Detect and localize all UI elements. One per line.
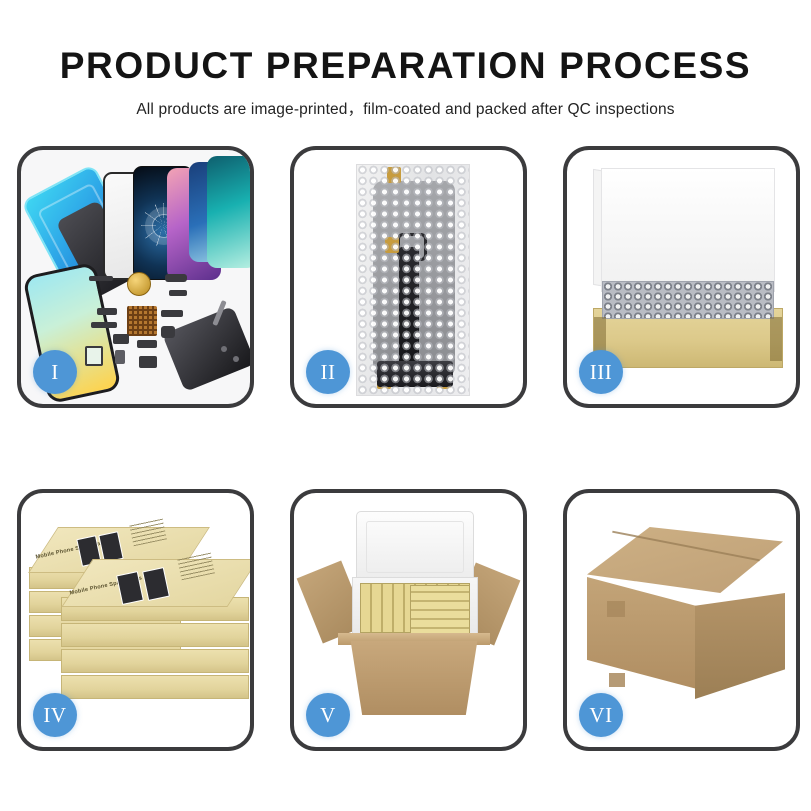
tape-patch-icon (607, 601, 625, 617)
white-box-lid-icon (601, 168, 775, 292)
sim-tray-icon (115, 350, 125, 364)
product-preparation-infographic: PRODUCT PREPARATION PROCESS All products… (0, 0, 811, 811)
teal-phone-icon (207, 156, 250, 268)
phone-back-housing-icon (162, 306, 250, 392)
kraft-tray-icon (593, 308, 783, 368)
page-title: PRODUCT PREPARATION PROCESS (0, 0, 811, 86)
connector-icon (97, 308, 117, 315)
step-panel-5: V (290, 489, 527, 751)
carton-body-icon (342, 641, 486, 715)
carton-right-face (695, 593, 785, 699)
process-steps-grid: I II (17, 146, 797, 750)
earpiece-speaker-icon (89, 276, 113, 281)
retail-box (61, 675, 249, 699)
header: PRODUCT PREPARATION PROCESS All products… (0, 0, 811, 119)
foam-lid-icon (356, 511, 474, 583)
battery-icon (85, 346, 103, 366)
step-panel-4: Mobile Phone Spare Parts Mobile Phone Sp… (17, 489, 254, 751)
button-flex-icon (113, 334, 129, 344)
step-badge-5: V (306, 693, 350, 737)
screw-icon (221, 346, 227, 352)
step-panel-3: III (563, 146, 800, 408)
carton-left-face (587, 577, 697, 689)
flex-cable-icon (165, 274, 187, 282)
step-badge-2: II (306, 350, 350, 394)
bubble-texture (357, 165, 469, 395)
retail-box (61, 649, 249, 673)
screw-icon (233, 356, 239, 362)
tape-patch-icon (609, 673, 625, 687)
power-flex-icon (161, 310, 183, 317)
antenna-cable-icon (91, 322, 117, 328)
bubble-wrap-bag-icon (356, 164, 470, 396)
taptic-engine-icon (139, 356, 157, 368)
step-panel-2: II (290, 146, 527, 408)
step-badge-3: III (579, 350, 623, 394)
bubble-wrap-liner-icon (602, 281, 774, 319)
small-flex-icon (169, 290, 187, 296)
step-badge-6: VI (579, 693, 623, 737)
step-badge-4: IV (33, 693, 77, 737)
camera-module-icon (137, 340, 157, 348)
step-panel-1: I (17, 146, 254, 408)
ic-chip-icon (127, 306, 157, 336)
speaker-box-icon (161, 326, 175, 338)
step-badge-1: I (33, 350, 77, 394)
vibration-motor-icon (127, 272, 151, 296)
packed-retail-boxes (410, 585, 470, 637)
page-subtitle: All products are image-printed，film-coat… (0, 86, 811, 119)
step-panel-6: VI (563, 489, 800, 751)
retail-box (61, 623, 249, 647)
tray-corner-right (770, 317, 782, 361)
